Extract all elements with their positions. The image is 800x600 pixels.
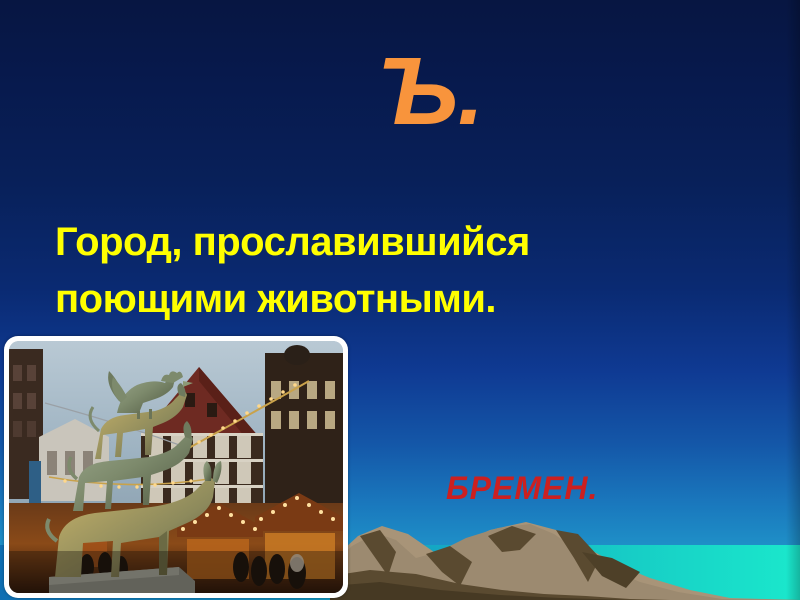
mountain-range-graphic [330,500,800,600]
photo-frame [4,336,348,598]
page-title: Ъ. [300,44,560,140]
bremen-town-musicians-photo [9,341,343,593]
question-text: Город, прославившийся поющими животными. [55,214,675,328]
question-line-2: поющими животными. [55,271,675,328]
presentation-slide: Ъ. Город, прославившийся поющими животны… [0,0,800,600]
question-line-1: Город, прославившийся [55,214,675,271]
answer-text: БРЕМЕН. [446,470,598,507]
